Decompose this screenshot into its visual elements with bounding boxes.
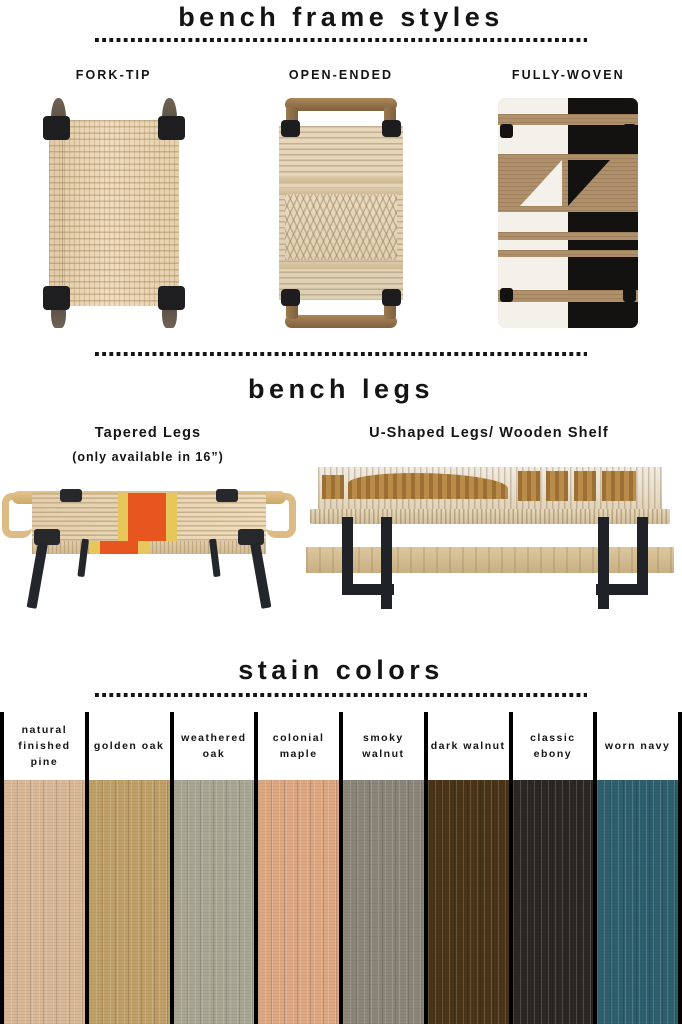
stain-color-chip[interactable]: [258, 780, 339, 1024]
woven-jute-seat: [49, 120, 179, 306]
tan-band: [498, 232, 638, 240]
frame-option-label: OPEN-ENDED: [227, 68, 454, 82]
tan-band: [498, 250, 638, 257]
stain-swatch[interactable]: dark walnut: [428, 712, 513, 1024]
wood-inlay: [348, 473, 508, 499]
corner-bracket: [43, 286, 70, 310]
orange-stripe: [128, 493, 166, 545]
frame-styles-row: FORK-TIP OPEN-ENDED: [0, 60, 682, 332]
wood-inlay: [546, 471, 568, 501]
bench-legs-title: bench legs: [0, 374, 682, 405]
wood-inlay: [322, 475, 344, 499]
stain-swatch[interactable]: colonial maple: [258, 712, 343, 1024]
corner-bracket: [158, 116, 185, 140]
corner-bracket: [60, 489, 82, 502]
black-triangle: [568, 160, 610, 206]
white-dash-row: [520, 258, 568, 270]
stain-swatch[interactable]: worn navy: [597, 712, 682, 1024]
open-ended-bench-image: [277, 98, 405, 328]
stain-label: golden oak: [89, 712, 170, 780]
stain-label: worn navy: [597, 712, 678, 780]
chevron-weave-panel: [285, 194, 397, 260]
woven-panel: [498, 98, 638, 328]
frame-option-label: FULLY-WOVEN: [455, 68, 682, 82]
corner-bracket: [382, 120, 401, 137]
u-shaped-legs-bench-image: [306, 461, 674, 611]
tan-band: [498, 290, 638, 302]
u-shaped-leg: [342, 517, 414, 609]
frame-option-open-ended[interactable]: OPEN-ENDED: [227, 60, 454, 332]
bench-options-guide: bench frame styles FORK-TIP OPEN-ENDED: [0, 0, 682, 1024]
yellow-stripe: [90, 541, 100, 554]
stain-label: dark walnut: [428, 712, 509, 780]
white-triangle: [520, 160, 562, 206]
tan-band: [498, 114, 638, 125]
fully-woven-bench-image: [498, 98, 638, 328]
legs-option-tapered[interactable]: Tapered Legs (only available in 16”): [0, 425, 296, 615]
corner-bracket: [281, 289, 300, 306]
stain-swatch[interactable]: golden oak: [89, 712, 174, 1024]
stain-label: natural finished pine: [4, 712, 85, 780]
stain-label: classic ebony: [513, 712, 594, 780]
frame-option-fully-woven[interactable]: FULLY-WOVEN: [455, 60, 682, 332]
wood-inlay: [602, 471, 636, 501]
stain-label: colonial maple: [258, 712, 339, 780]
stain-color-chip[interactable]: [89, 780, 170, 1024]
stain-color-chip[interactable]: [597, 780, 678, 1024]
stain-label: weathered oak: [174, 712, 255, 780]
tapered-legs-bench-image: [4, 481, 294, 611]
black-dash-row: [570, 218, 618, 230]
white-dash-row: [520, 240, 568, 250]
corner-bracket: [158, 286, 185, 310]
wood-rail: [285, 98, 397, 111]
stain-color-chip[interactable]: [4, 780, 85, 1024]
fork-tip-bench-image: [35, 98, 193, 328]
wood-inlay: [518, 471, 540, 501]
u-shaped-leg: [576, 517, 648, 609]
corner-bracket: [281, 120, 300, 137]
corner-bracket: [43, 116, 70, 140]
stain-color-chip[interactable]: [428, 780, 509, 1024]
black-dash-row: [570, 240, 618, 250]
orange-stripe: [100, 541, 138, 554]
tapered-leg: [250, 542, 271, 609]
legs-option-note: (only available in 16”): [0, 450, 296, 464]
stain-swatch[interactable]: classic ebony: [513, 712, 598, 1024]
woven-jute-seat: [318, 467, 662, 513]
corner-bracket: [500, 288, 513, 302]
corner-bracket: [382, 289, 401, 306]
black-dash-row: [570, 258, 618, 270]
divider-middle: [95, 352, 587, 356]
weave-band: [279, 176, 403, 183]
wood-rail: [285, 315, 397, 328]
seat-front-edge: [32, 541, 266, 554]
bench-legs-row: Tapered Legs (only available in 16”): [0, 425, 682, 615]
stain-swatch[interactable]: natural finished pine: [0, 712, 89, 1024]
white-dash-row: [520, 218, 568, 230]
weave-band: [279, 262, 403, 269]
frame-option-label: FORK-TIP: [0, 68, 227, 82]
stain-swatch[interactable]: smoky walnut: [343, 712, 428, 1024]
stain-swatch-strip: natural finished pine golden oak weather…: [0, 712, 682, 1024]
stain-swatch[interactable]: weathered oak: [174, 712, 259, 1024]
stain-color-chip[interactable]: [174, 780, 255, 1024]
corner-bracket: [216, 489, 238, 502]
stain-colors-title: stain colors: [0, 655, 682, 686]
yellow-stripe: [166, 493, 177, 545]
frame-styles-title: bench frame styles: [0, 2, 682, 33]
corner-bracket: [623, 124, 636, 138]
legs-option-u-shaped[interactable]: U-Shaped Legs/ Wooden Shelf: [296, 425, 682, 615]
corner-bracket: [500, 124, 513, 138]
stain-color-chip[interactable]: [513, 780, 594, 1024]
frame-option-fork-tip[interactable]: FORK-TIP: [0, 60, 227, 332]
yellow-stripe: [118, 493, 128, 545]
stain-color-chip[interactable]: [343, 780, 424, 1024]
wood-inlay: [574, 471, 596, 501]
yellow-stripe: [138, 541, 149, 554]
divider-bottom: [95, 693, 587, 697]
stain-label: smoky walnut: [343, 712, 424, 780]
tapered-leg: [27, 542, 48, 609]
legs-option-label: U-Shaped Legs/ Wooden Shelf: [296, 425, 682, 441]
legs-option-label: Tapered Legs: [0, 425, 296, 441]
divider-top: [95, 38, 587, 42]
corner-bracket: [623, 288, 636, 302]
